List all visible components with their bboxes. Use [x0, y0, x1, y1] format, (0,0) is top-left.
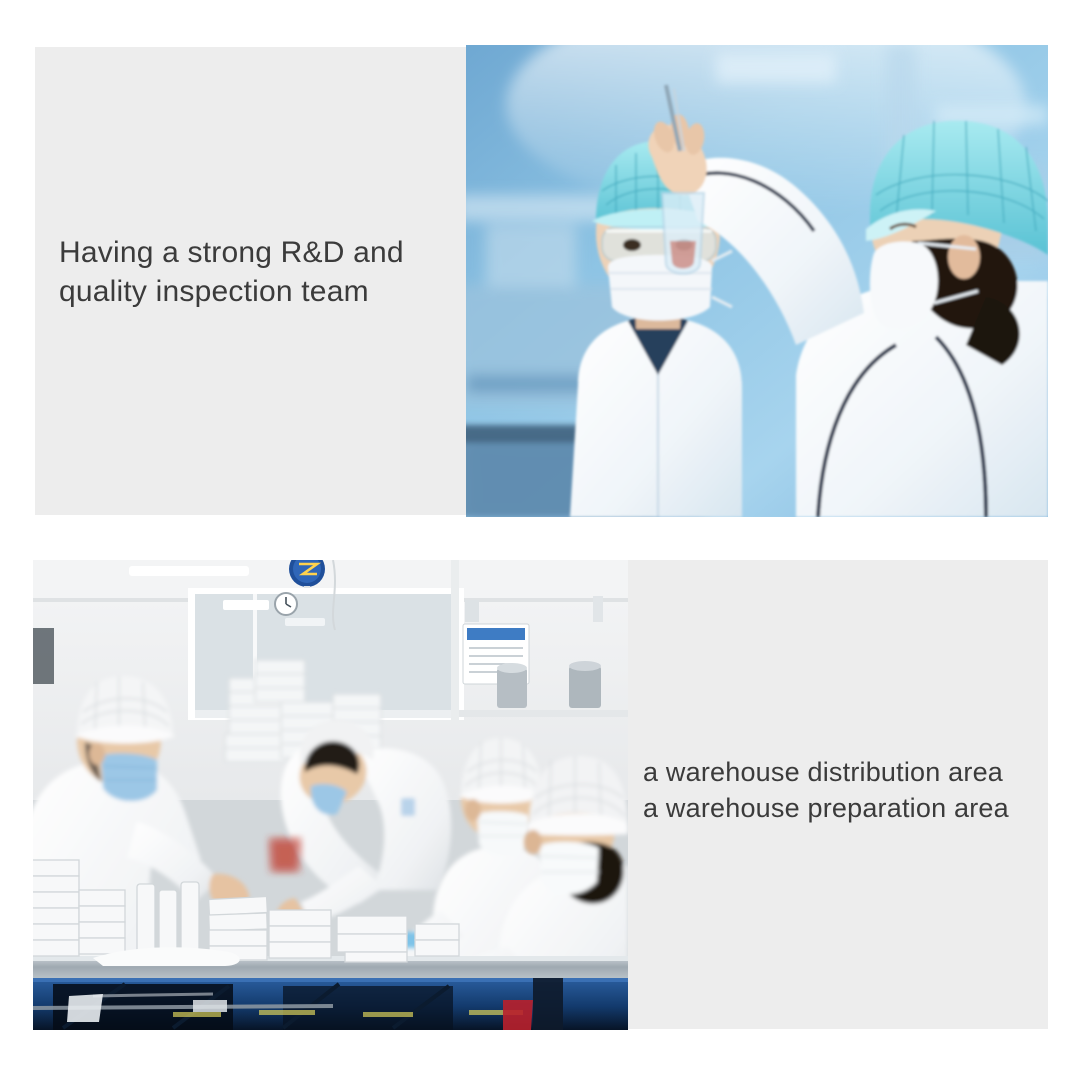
top-section-caption: Having a strong R&D and quality inspecti… [59, 233, 459, 311]
lab-inspection-photo [466, 45, 1048, 517]
top-section: Having a strong R&D and quality inspecti… [35, 47, 1048, 517]
page-root: Having a strong R&D and quality inspecti… [0, 0, 1080, 1080]
warehouse-packing-photo [33, 560, 628, 1030]
wall-clock [275, 593, 297, 615]
bottom-section-caption: a warehouse distribution area a warehous… [643, 754, 1043, 826]
lab-inspection-illustration [466, 45, 1048, 517]
warehouse-packing-illustration [33, 560, 628, 1030]
bottom-section: a warehouse distribution area a warehous… [33, 558, 1048, 1030]
